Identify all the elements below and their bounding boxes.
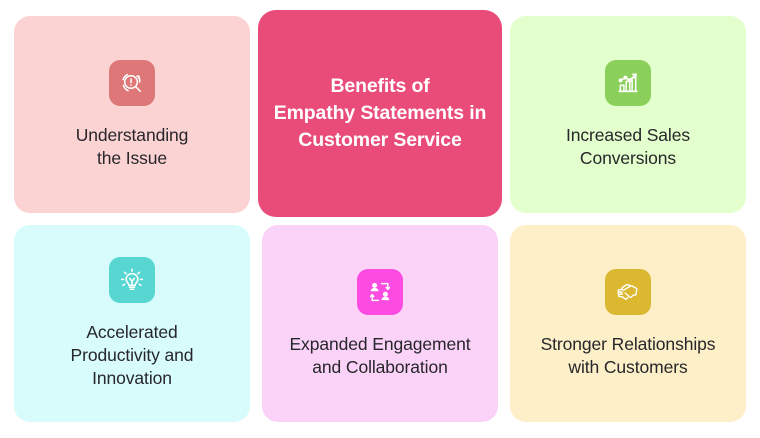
lightbulb-idea-icon-tile xyxy=(109,257,155,303)
infographic-container: Understanding the Issue Benefits of Empa… xyxy=(0,0,760,438)
lightbulb-idea-icon xyxy=(118,266,146,294)
magnifier-alert-icon-tile xyxy=(109,60,155,106)
hero-title-line: Benefits of xyxy=(330,75,429,97)
card-label-line: Expanded Engagement xyxy=(289,334,470,354)
handshake-icon xyxy=(614,278,642,306)
hero-title-line: Customer Service xyxy=(298,129,461,151)
people-collaboration-icon-tile xyxy=(357,269,403,315)
card-understanding-the-issue[interactable]: Understanding the Issue xyxy=(14,16,250,213)
magnifier-alert-icon xyxy=(118,69,146,97)
card-label-line: Stronger Relationships xyxy=(541,334,716,354)
card-label-understanding-the-issue: Understanding the Issue xyxy=(76,124,189,170)
hero-title-line: Empathy Statements in xyxy=(274,102,486,124)
page-title: Benefits of Empathy Statements in Custom… xyxy=(274,73,486,154)
card-expanded-engagement-and-collaboration[interactable]: Expanded Engagement and Collaboration xyxy=(262,225,498,422)
card-increased-sales-conversions[interactable]: Increased Sales Conversions xyxy=(510,16,746,213)
card-label-increased-sales-conversions: Increased Sales Conversions xyxy=(566,124,690,170)
handshake-icon-tile xyxy=(605,269,651,315)
card-label-line: Innovation xyxy=(92,368,172,388)
card-label-accelerated-productivity-and-innovation: Accelerated Productivity and Innovation xyxy=(71,321,194,389)
card-label-line: Increased Sales xyxy=(566,125,690,145)
bar-chart-growth-icon xyxy=(614,69,642,97)
card-label-line: the Issue xyxy=(97,148,167,168)
people-collaboration-icon xyxy=(366,278,394,306)
card-label-line: Conversions xyxy=(580,148,676,168)
card-label-line: and Collaboration xyxy=(312,357,447,377)
bar-chart-growth-icon-tile xyxy=(605,60,651,106)
card-label-line: Accelerated xyxy=(86,322,177,342)
card-label-expanded-engagement-and-collaboration: Expanded Engagement and Collaboration xyxy=(289,333,470,379)
card-stronger-relationships-with-customers[interactable]: Stronger Relationships with Customers xyxy=(510,225,746,422)
card-label-line: Productivity and xyxy=(71,345,194,365)
hero-title-card: Benefits of Empathy Statements in Custom… xyxy=(258,10,502,217)
card-label-stronger-relationships-with-customers: Stronger Relationships with Customers xyxy=(541,333,716,379)
card-label-line: with Customers xyxy=(568,357,687,377)
card-accelerated-productivity-and-innovation[interactable]: Accelerated Productivity and Innovation xyxy=(14,225,250,422)
card-label-line: Understanding xyxy=(76,125,189,145)
